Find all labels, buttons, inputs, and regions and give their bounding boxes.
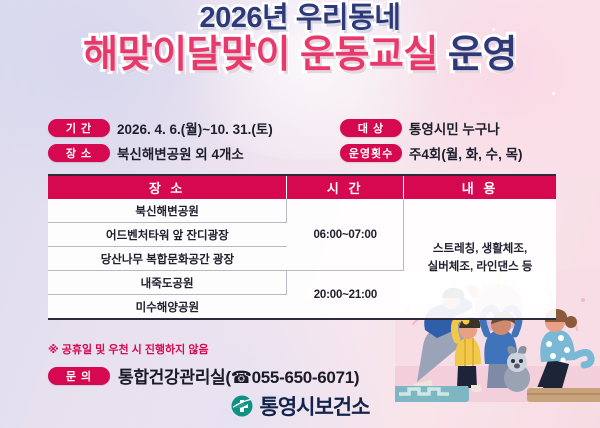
table-row: 북신해변공원 06:00~07:00 스트레칭, 생활체조, 실버체조, 라인댄…: [48, 199, 556, 223]
cell-place: 당산나무 복합문화공간 광장: [48, 247, 287, 271]
cell-time-evening: 20:00~21:00: [287, 271, 404, 319]
cell-place: 미수해양공원: [48, 295, 287, 319]
info-row-location: 장 소 북신해변공원 외 4개소: [48, 143, 340, 162]
info-label-frequency: 운영횟수: [340, 144, 402, 162]
health-center-emblem-icon: [231, 395, 253, 417]
info-label-target: 대 상: [340, 119, 402, 137]
title-line-2-suffix: 운영: [448, 34, 517, 76]
info-value-target: 통영시민 누구나: [409, 118, 500, 138]
title-line-1: 2026년 우리동네: [0, 4, 600, 33]
cell-place: 어드벤처타워 앞 잔디광장: [48, 223, 287, 247]
sparkle-dot: [552, 92, 555, 95]
title-line-2: 해맞이달맞이 운동교실 운영: [0, 36, 600, 74]
cell-place: 북신해변공원: [48, 199, 287, 223]
contact-value: 통합건강관리실(☎055-650-6071): [118, 363, 359, 388]
cell-place: 내죽도공원: [48, 271, 287, 295]
info-summary: 기 간 2026. 4. 6.(월)~10. 31.(토) 장 소 북신해변공원…: [48, 118, 558, 162]
poster-title: 2026년 우리동네 해맞이달맞이 운동교실 운영: [0, 4, 600, 74]
organization-logo: 통영시보건소: [0, 391, 600, 421]
cell-time-morning: 06:00~07:00: [287, 199, 404, 271]
table-header-row: 장 소 시 간 내 용: [48, 176, 556, 199]
schedule-table-container: 장 소 시 간 내 용 북신해변공원 06:00~07:00 스트레칭, 생활체…: [48, 174, 556, 320]
info-row-frequency: 운영횟수 주4회(월, 화, 수, 목): [340, 143, 558, 162]
contact-label: 문 의: [48, 367, 110, 385]
title-line-2-highlight: 해맞이달맞이 운동교실: [83, 34, 438, 76]
organization-name: 통영시보건소: [260, 391, 370, 421]
info-value-frequency: 주4회(월, 화, 수, 목): [409, 143, 523, 163]
content-line-1: 스트레칭, 생활체조,: [433, 243, 527, 255]
info-label-period: 기 간: [48, 119, 110, 137]
info-value-period: 2026. 4. 6.(월)~10. 31.(토): [117, 118, 273, 138]
column-header-time: 시 간: [287, 176, 404, 199]
info-value-location: 북신해변공원 외 4개소: [117, 143, 244, 163]
column-header-place: 장 소: [48, 176, 287, 199]
poster-canvas: 2026년 우리동네 해맞이달맞이 운동교실 운영 기 간 2026. 4. 6…: [0, 0, 600, 428]
column-header-content: 내 용: [404, 176, 556, 199]
schedule-table: 장 소 시 간 내 용 북신해변공원 06:00~07:00 스트레칭, 생활체…: [48, 176, 556, 318]
info-label-location: 장 소: [48, 144, 110, 162]
notice-text: ※ 공휴일 및 우천 시 진행하지 않음: [48, 341, 209, 357]
info-column-left: 기 간 2026. 4. 6.(월)~10. 31.(토) 장 소 북신해변공원…: [48, 118, 340, 162]
cell-content: 스트레칭, 생활체조, 실버체조, 라인댄스 등: [404, 199, 556, 318]
content-line-2: 실버체조, 라인댄스 등: [428, 261, 533, 273]
info-column-right: 대 상 통영시민 누구나 운영횟수 주4회(월, 화, 수, 목): [340, 118, 558, 162]
info-row-target: 대 상 통영시민 누구나: [340, 118, 558, 137]
contact-row: 문 의 통합건강관리실(☎055-650-6071): [48, 363, 359, 388]
info-row-period: 기 간 2026. 4. 6.(월)~10. 31.(토): [48, 118, 340, 137]
